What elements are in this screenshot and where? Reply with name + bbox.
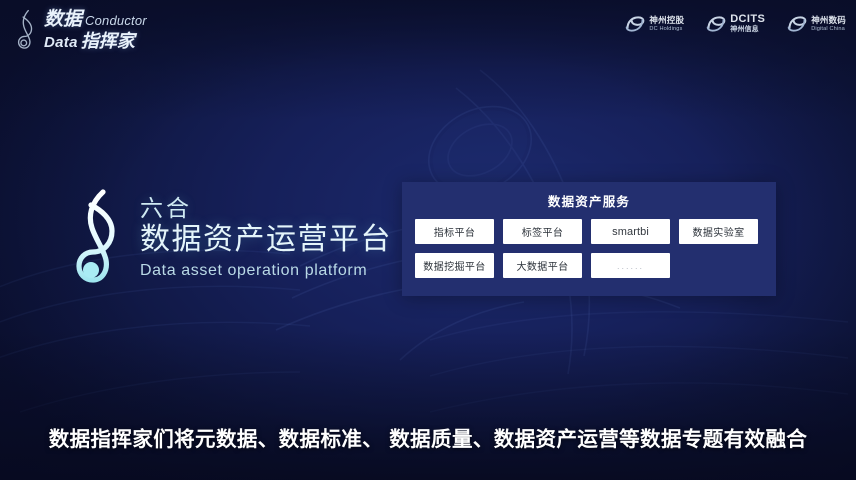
partner-name-cn: 神州数码	[811, 16, 846, 25]
panel-title: 数据资产服务	[548, 191, 630, 210]
partner-name-cn: DCITS	[730, 14, 765, 26]
panel-chip-grid: 指标平台 标签平台 smartbi 数据实验室 数据挖掘平台 大数据平台 ...…	[402, 219, 776, 278]
treble-clef-icon	[70, 186, 128, 290]
partner-name-en: DC Holdings	[649, 26, 684, 32]
partner-logo-group: 神州控股 DC Holdings DCITS 神州信息 神州数码 Digital…	[625, 14, 846, 34]
partner-name-en: 神州信息	[730, 26, 765, 34]
data-asset-service-panel: 数据资产服务 指标平台 标签平台 smartbi 数据实验室 数据挖掘平台 大数…	[402, 182, 776, 296]
partner-logo-dc-holdings[interactable]: 神州控股 DC Holdings	[625, 14, 684, 34]
chip-indicator-platform[interactable]: 指标平台	[415, 219, 494, 244]
brand-line-1: 数据 Conductor	[44, 10, 147, 29]
partner-labels: 神州数码 Digital China	[811, 16, 846, 31]
hero-line-2: 数据资产运营平台	[140, 222, 392, 258]
hero-title-block: 六合 数据资产运营平台 Data asset operation platfor…	[70, 186, 392, 290]
partner-logo-dcits[interactable]: DCITS 神州信息	[706, 14, 765, 34]
chip-smartbi[interactable]: smartbi	[591, 219, 670, 244]
brand-en-secondary: Data	[44, 35, 78, 50]
partner-logo-digital-china[interactable]: 神州数码 Digital China	[787, 14, 846, 34]
swirl-mark-icon	[787, 14, 807, 34]
chip-more[interactable]: ......	[591, 253, 670, 278]
caption-text: 数据指挥家们将元数据、数据标准、 数据质量、数据资产运营等数据专题有效融合	[0, 422, 856, 452]
brand-cn-secondary: 指挥家	[81, 32, 135, 50]
panel-chip-row: 数据挖掘平台 大数据平台 ......	[415, 253, 763, 278]
hero-line-3: Data asset operation platform	[140, 262, 392, 280]
panel-chip-row: 指标平台 标签平台 smartbi 数据实验室	[415, 219, 763, 244]
brand-logo[interactable]: 数据 Conductor Data 指挥家	[14, 8, 147, 52]
partner-labels: 神州控股 DC Holdings	[649, 16, 684, 31]
partner-labels: DCITS 神州信息	[730, 14, 765, 33]
chip-data-lab[interactable]: 数据实验室	[679, 219, 758, 244]
partner-name-en: Digital China	[811, 26, 846, 32]
chip-data-mining-platform[interactable]: 数据挖掘平台	[415, 253, 494, 278]
chip-tag-platform[interactable]: 标签平台	[503, 219, 582, 244]
swirl-mark-icon	[706, 14, 726, 34]
hero-line-1: 六合	[140, 196, 392, 222]
brand-wordmark: 数据 Conductor Data 指挥家	[44, 10, 147, 50]
treble-clef-icon	[14, 8, 40, 52]
partner-name-cn: 神州控股	[649, 16, 684, 25]
brand-cn-primary: 数据	[44, 10, 82, 29]
swirl-mark-icon	[625, 14, 645, 34]
brand-en-primary: Conductor	[85, 14, 147, 27]
chip-big-data-platform[interactable]: 大数据平台	[503, 253, 582, 278]
brand-line-2: Data 指挥家	[44, 32, 147, 50]
slide-canvas: 数据 Conductor Data 指挥家 神州控股 DC Holdings	[0, 0, 856, 480]
bottom-shade	[0, 330, 856, 480]
hero-text: 六合 数据资产运营平台 Data asset operation platfor…	[140, 196, 392, 281]
